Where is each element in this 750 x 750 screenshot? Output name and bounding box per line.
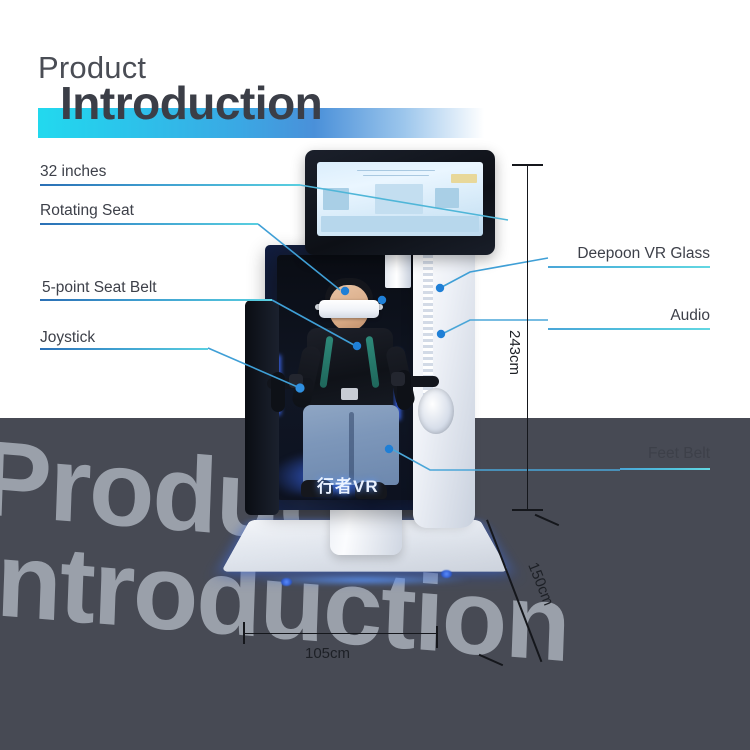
dimension-label-width: 105cm: [305, 645, 350, 662]
harness-buckle: [341, 388, 358, 400]
vr-headset: [319, 300, 379, 318]
dimension-cap-height-top: [512, 164, 543, 166]
dimension-cap-height-bottom: [512, 509, 543, 511]
joystick-left: [271, 372, 285, 412]
dimension-line-width: [244, 633, 437, 634]
display-screen: [317, 162, 483, 236]
title-main-line: Introduction: [60, 80, 322, 126]
callout-label-32-inches: 32 inches: [40, 164, 106, 180]
callout-label-feet-belt: Feet Belt: [450, 446, 710, 462]
callout-label-joystick: Joystick: [40, 330, 95, 346]
callout-label-vr-glass: Deepoon VR Glass: [410, 246, 710, 262]
platform-foot-right: [441, 570, 452, 578]
dimension-cap-width-left: [243, 622, 245, 644]
joystick-knob-left: [289, 374, 303, 388]
display-neck: [385, 250, 411, 288]
callout-underline-audio: [548, 328, 710, 330]
person-torso: [307, 328, 393, 414]
callout-underline-32-inches: [40, 184, 300, 186]
callout-label-rotating-seat: Rotating Seat: [40, 203, 134, 219]
dimension-label-height: 243cm: [506, 330, 523, 375]
callout-label-seat-belt: 5-point Seat Belt: [42, 280, 157, 296]
platform-foot-left: [281, 578, 292, 586]
vr-machine-illustration: 行者VR: [245, 150, 515, 650]
page-title: Product Introduction: [38, 52, 508, 147]
callout-label-audio: Audio: [450, 308, 710, 324]
dimension-line-height: [527, 165, 528, 510]
audio-speaker: [418, 388, 454, 434]
product-introduction-infographic: Product Introduction: [0, 0, 750, 750]
callout-underline-joystick: [40, 348, 208, 350]
joystick-knob-right: [391, 372, 405, 386]
footplate-branding: 行者VR: [317, 472, 379, 497]
callout-underline-rotating-seat: [40, 223, 258, 225]
callout-underline-feet-belt: [620, 468, 710, 470]
dimension-cap-width-right: [436, 626, 438, 648]
callout-underline-seat-belt: [40, 299, 272, 301]
callout-underline-vr-glass: [548, 266, 710, 268]
